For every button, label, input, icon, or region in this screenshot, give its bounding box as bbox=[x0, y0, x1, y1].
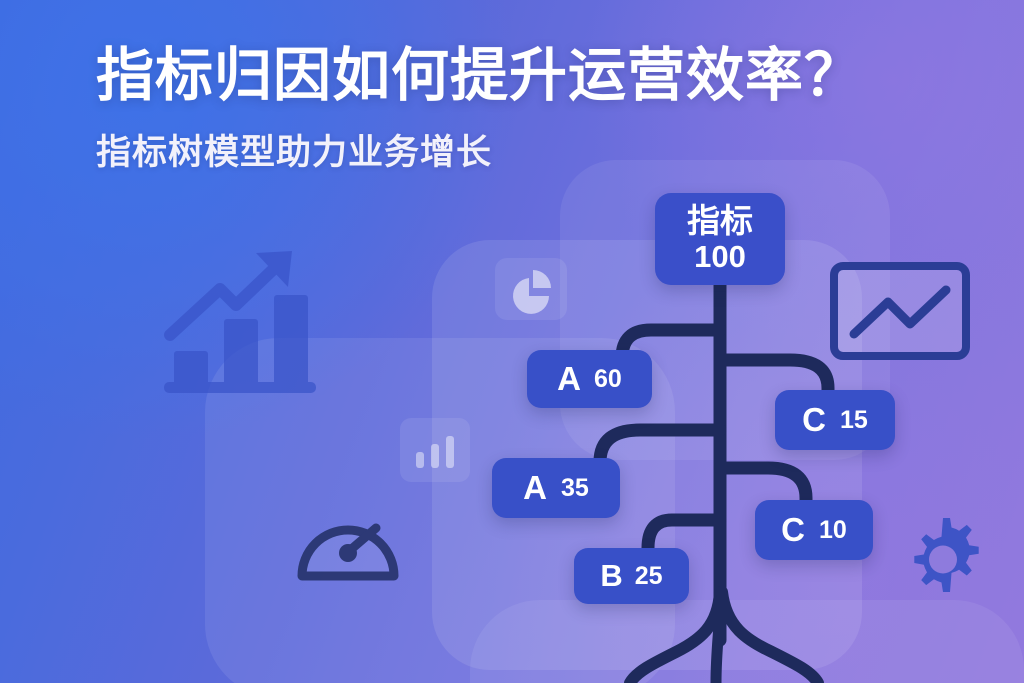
poster-canvas: 指标归因如何提升运营效率？ 指标树模型助力业务增长 指标 bbox=[0, 0, 1024, 683]
metric-node-value: 100 bbox=[694, 239, 746, 275]
tree-root-left bbox=[630, 592, 720, 683]
metric-node-value: 60 bbox=[594, 365, 622, 394]
metric-node-label: B bbox=[600, 558, 622, 594]
metric-node-b25[interactable]: B 25 bbox=[574, 548, 689, 604]
metric-node-label: A bbox=[523, 469, 547, 507]
metric-node-label: 指标 bbox=[687, 203, 753, 239]
metric-node-label: C bbox=[802, 401, 826, 439]
metric-node-label: C bbox=[781, 511, 805, 549]
gauge-speedometer-icon bbox=[292, 492, 404, 592]
metric-node-value: 25 bbox=[635, 562, 663, 591]
growth-bar-chart-arrow-icon bbox=[160, 243, 340, 403]
metric-node-value: 15 bbox=[840, 406, 868, 435]
metric-node-c15[interactable]: C 15 bbox=[775, 390, 895, 450]
metric-node-label: A bbox=[557, 360, 581, 398]
tree-root-right bbox=[722, 592, 818, 683]
pie-chart-icon bbox=[495, 258, 567, 320]
bar-chart-icon bbox=[400, 418, 470, 482]
metric-node-c10[interactable]: C 10 bbox=[755, 500, 873, 560]
gear-settings-icon bbox=[900, 512, 986, 598]
metric-node-a35[interactable]: A 35 bbox=[492, 458, 620, 518]
line-chart-panel-icon bbox=[830, 262, 970, 360]
metric-node-a60[interactable]: A 60 bbox=[527, 350, 652, 408]
metric-node-root[interactable]: 指标 100 bbox=[655, 193, 785, 285]
metric-node-value: 35 bbox=[561, 474, 589, 503]
tree-root-center bbox=[716, 600, 721, 683]
metric-node-value: 10 bbox=[819, 516, 847, 545]
